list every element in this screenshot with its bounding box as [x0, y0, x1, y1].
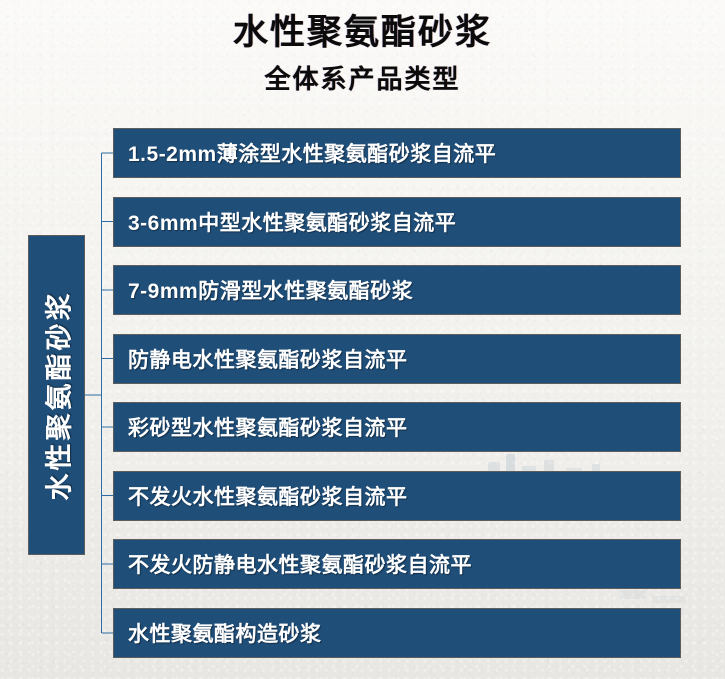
root-category-text: 水性聚氨酯砂浆 [37, 290, 76, 500]
product-item-label: 7-9mm防滑型水性聚氨酯砂浆 [114, 275, 413, 305]
product-item-8[interactable]: 水性聚氨酯构造砂浆 [113, 608, 681, 658]
page-title: 水性聚氨酯砂浆 [0, 0, 725, 53]
product-item-2[interactable]: 3-6mm中型水性聚氨酯砂浆自流平 [113, 197, 681, 247]
product-item-label: 防静电水性聚氨酯砂浆自流平 [114, 344, 408, 374]
product-item-7[interactable]: 不发火防静电水性聚氨酯砂浆自流平 [113, 539, 681, 589]
product-item-4[interactable]: 防静电水性聚氨酯砂浆自流平 [113, 334, 681, 384]
product-item-label: 彩砂型水性聚氨酯砂浆自流平 [114, 412, 408, 442]
product-item-label: 1.5-2mm薄涂型水性聚氨酯砂浆自流平 [114, 138, 496, 168]
product-item-label: 3-6mm中型水性聚氨酯砂浆自流平 [114, 207, 456, 237]
product-item-label: 水性聚氨酯构造砂浆 [114, 618, 322, 648]
product-item-1[interactable]: 1.5-2mm薄涂型水性聚氨酯砂浆自流平 [113, 128, 681, 178]
product-item-3[interactable]: 7-9mm防滑型水性聚氨酯砂浆 [113, 265, 681, 315]
root-category-label: 水性聚氨酯砂浆 [28, 235, 85, 555]
header-block: 水性聚氨酯砂浆 全体系产品类型 [0, 0, 725, 93]
product-item-label: 不发火水性聚氨酯砂浆自流平 [114, 481, 408, 511]
city-watermark-icon [470, 440, 725, 630]
product-item-label: 不发火防静电水性聚氨酯砂浆自流平 [114, 549, 472, 579]
product-item-6[interactable]: 不发火水性聚氨酯砂浆自流平 [113, 471, 681, 521]
product-item-5[interactable]: 彩砂型水性聚氨酯砂浆自流平 [113, 402, 681, 452]
page-subtitle: 全体系产品类型 [0, 53, 725, 94]
